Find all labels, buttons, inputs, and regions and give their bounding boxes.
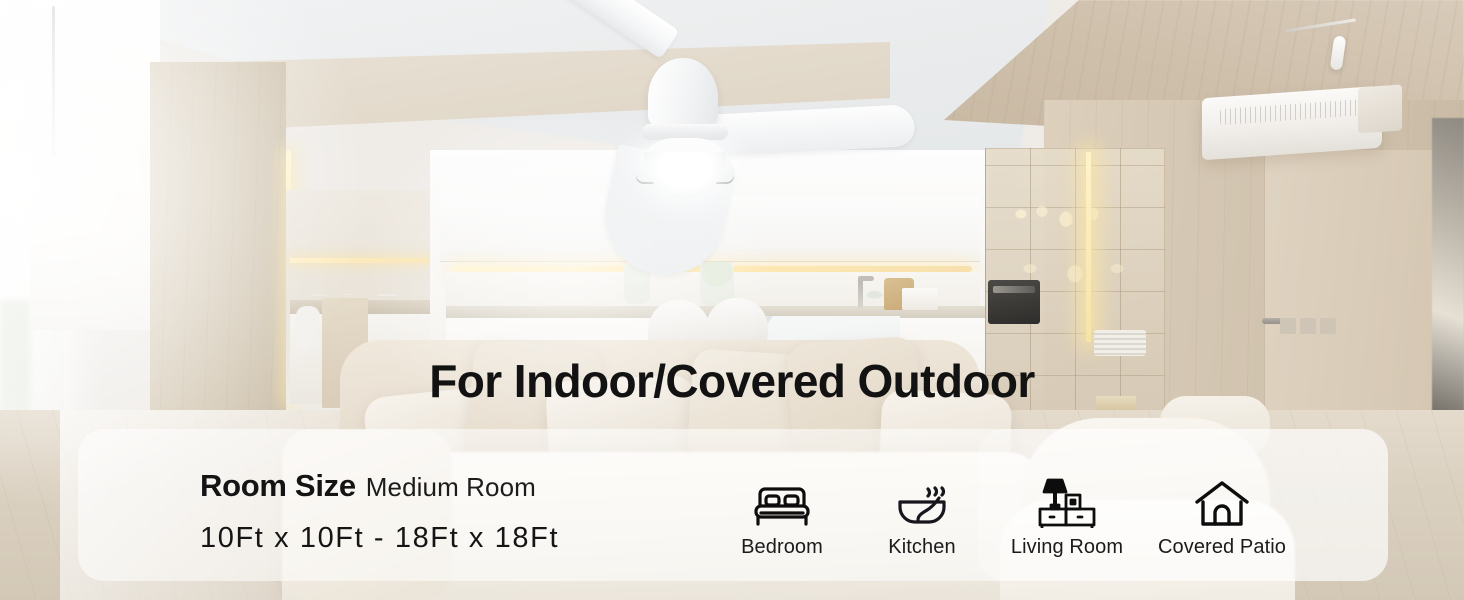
product-lifestyle-banner: For Indoor/Covered Outdoor Room Size Med… — [0, 0, 1464, 600]
use-case-label: Kitchen — [888, 536, 955, 559]
headline: For Indoor/Covered Outdoor — [0, 358, 1464, 404]
use-case-label: Bedroom — [741, 536, 823, 559]
ceiling-fan — [430, 20, 910, 290]
room-size-heading-row: Room Size Medium Room — [200, 468, 559, 504]
use-case-label: Living Room — [1011, 536, 1123, 559]
sideboard-lamp-icon — [1036, 478, 1098, 528]
use-case-label: Covered Patio — [1158, 536, 1286, 559]
blind-cord — [52, 6, 55, 156]
room-size-block: Room Size Medium Room 10Ft x 10Ft - 18Ft… — [200, 468, 559, 555]
built-in-oven — [988, 280, 1040, 324]
use-case-living-room: Living Room — [992, 478, 1142, 559]
kitchen-canisters — [902, 288, 938, 310]
fan-motor-housing — [648, 58, 718, 130]
stacked-plates — [1094, 330, 1146, 356]
left-roller-blind — [30, 0, 160, 330]
use-case-covered-patio: Covered Patio — [1142, 478, 1302, 559]
use-case-kitchen: Kitchen — [852, 478, 992, 559]
door-handle — [1262, 318, 1282, 324]
house-icon — [1194, 478, 1250, 528]
rear-kitchen-stool — [296, 306, 320, 350]
bed-icon — [753, 478, 811, 528]
cabinet-accent-light — [1086, 152, 1091, 342]
use-case-bedroom: Bedroom — [712, 478, 852, 559]
room-size-subtitle: Medium Room — [366, 472, 536, 503]
air-conditioner-panel — [1358, 84, 1402, 133]
use-case-list: Bedroom Kitchen — [712, 478, 1302, 559]
room-size-title: Room Size — [200, 468, 356, 504]
room-size-dimensions: 10Ft x 10Ft - 18Ft x 18Ft — [200, 522, 559, 555]
cooking-pot-icon — [894, 478, 950, 528]
wall-switches — [1280, 318, 1336, 334]
